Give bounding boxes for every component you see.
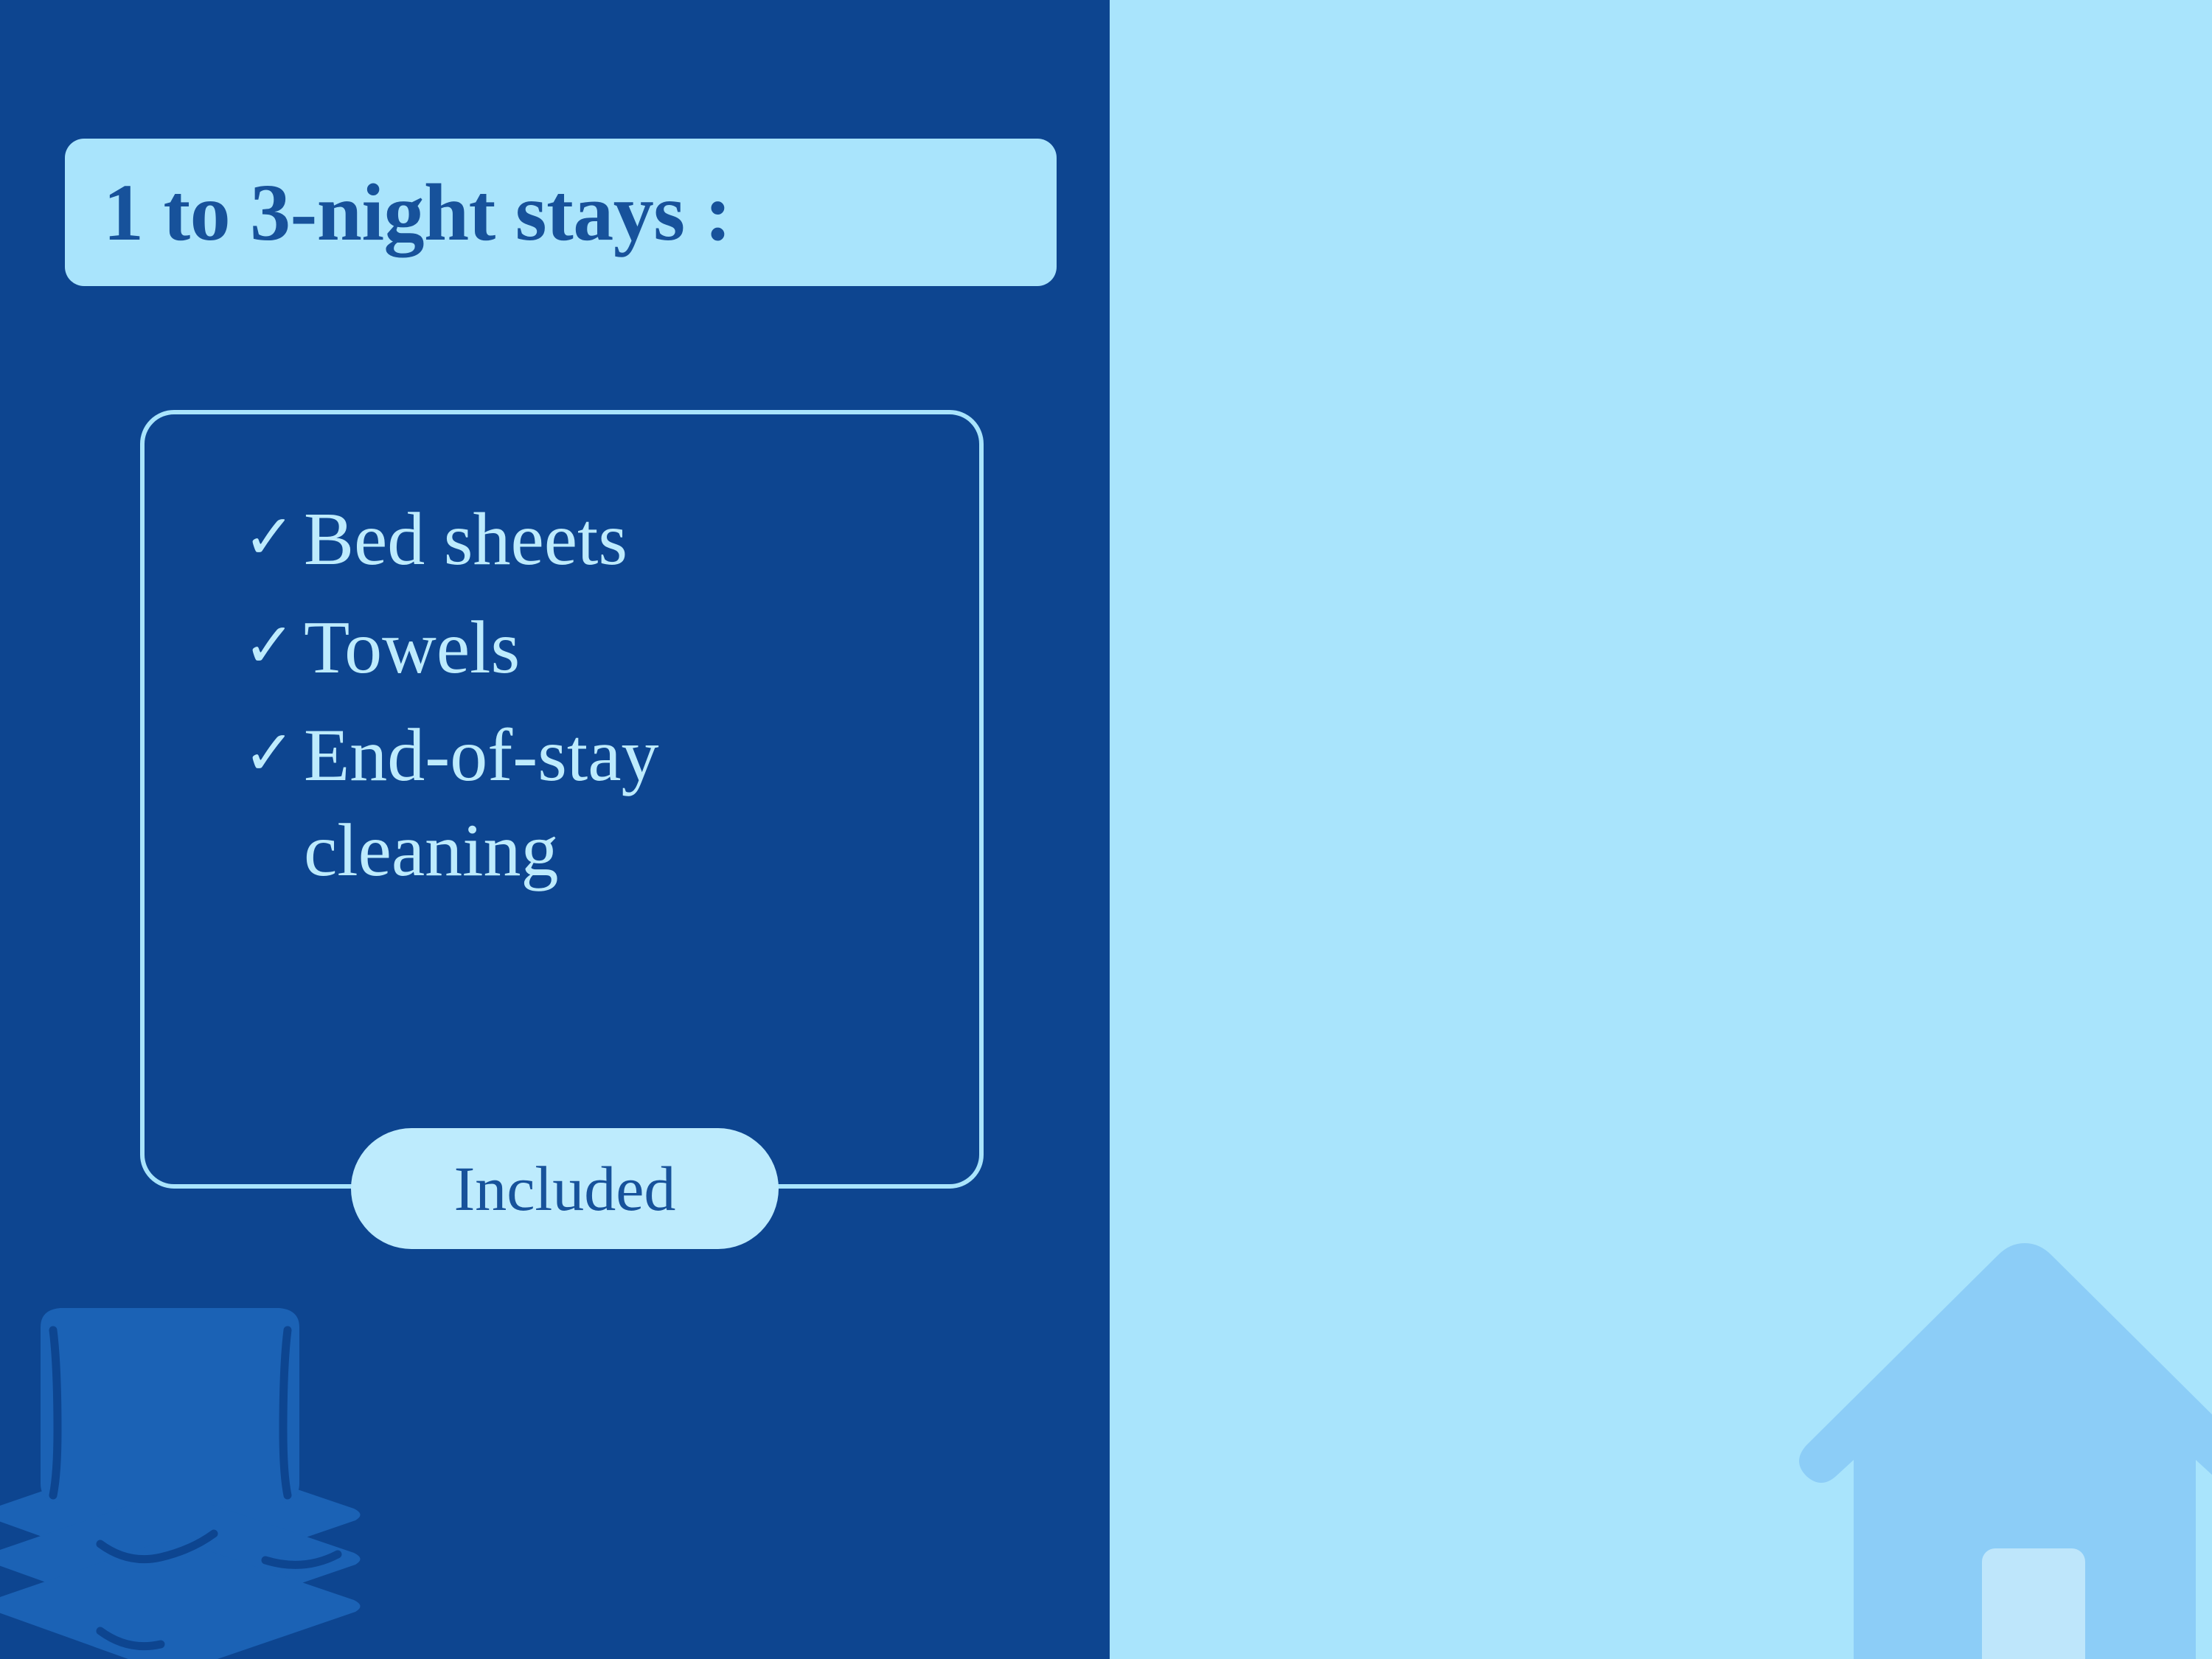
- list-item: ✓ Bed sheets: [243, 493, 864, 588]
- checkmark-icon: ✓: [243, 601, 304, 691]
- status-badge-label: Included: [454, 1152, 676, 1225]
- house-illustration: [1792, 1231, 2212, 1659]
- left-header-pill: 1 to 3-night stays :: [65, 139, 1057, 286]
- checkmark-icon: ✓: [243, 709, 304, 799]
- list-item-label: Towels: [304, 601, 864, 696]
- list-item: ✓ Towels: [243, 601, 864, 696]
- right-panel: 4-night stays and + : ✗ Bed sheets ✗ Tow…: [1110, 0, 2212, 1659]
- left-header-label: 1 to 3-night stays :: [103, 166, 731, 260]
- folded-linens-illustration: [0, 1298, 457, 1659]
- infographic-canvas: 1 to 3-night stays : ✓ Bed sheets ✓ Towe…: [0, 0, 2212, 1659]
- left-panel: 1 to 3-night stays : ✓ Bed sheets ✓ Towe…: [0, 0, 1110, 1659]
- list-item: ✓ End-of-stay cleaning: [243, 709, 864, 898]
- list-item-label: Bed sheets: [304, 493, 864, 588]
- left-feature-list: ✓ Bed sheets ✓ Towels ✓ End-of-stay clea…: [243, 493, 864, 911]
- checkmark-icon: ✓: [243, 493, 304, 582]
- list-item-label: End-of-stay cleaning: [304, 709, 864, 898]
- status-badge-included: Included: [351, 1128, 779, 1249]
